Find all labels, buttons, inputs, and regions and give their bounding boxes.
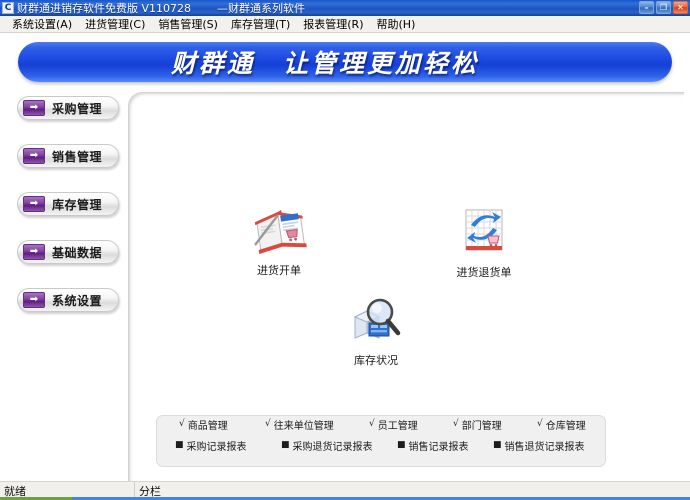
check-icon: √ (537, 419, 543, 429)
arrow-right-icon: ➡ (23, 244, 45, 260)
minimize-button[interactable]: – (639, 1, 654, 14)
arrow-right-icon: ➡ (23, 196, 45, 212)
application-window: C 财群通进销存软件免费版 V110728 —财群通系列软件 – ❐ ✕ 系统设… (0, 0, 690, 500)
link-label: 仓库管理 (546, 417, 586, 432)
shortcut-inventory-status[interactable]: 库存状况 (321, 293, 431, 368)
link-label: 往来单位管理 (274, 417, 334, 432)
brand-banner: 财群通让管理更加轻松 (18, 42, 672, 82)
link-sales-return-record-report[interactable]: ■ 销售退货记录报表 (493, 438, 585, 453)
sidebar-item-label: 销售管理 (52, 148, 102, 165)
sidebar-item-sales[interactable]: ➡ 销售管理 (17, 144, 119, 168)
body-area: 财群通让管理更加轻松 ➡ 采购管理 ➡ 销售管理 ➡ 库存管理 ➡ 基础数据 (0, 33, 690, 481)
menu-item-purchase[interactable]: 进货管理(C) (79, 17, 152, 32)
shortcut-label: 进货退货单 (457, 264, 512, 280)
link-purchase-return-record-report[interactable]: ■ 采购退货记录报表 (281, 438, 373, 453)
inventory-search-icon (347, 293, 405, 345)
link-goods-management[interactable]: √ 商品管理 (179, 417, 228, 432)
window-title: 财群通进销存软件免费版 V110728 (17, 2, 191, 15)
check-icon: √ (453, 419, 459, 429)
link-employee-management[interactable]: √ 员工管理 (369, 417, 418, 432)
check-icon: √ (179, 419, 185, 429)
arrow-right-icon: ➡ (23, 100, 45, 116)
link-purchase-record-report[interactable]: ■ 采购记录报表 (175, 438, 247, 453)
arrow-right-icon: ➡ (23, 292, 45, 308)
link-label: 销售记录报表 (409, 438, 469, 453)
menu-item-system-settings[interactable]: 系统设置(A) (6, 17, 79, 32)
sidebar: ➡ 采购管理 ➡ 销售管理 ➡ 库存管理 ➡ 基础数据 ➡ 系统设置 (0, 90, 128, 482)
window-controls: – ❐ ✕ (639, 1, 688, 14)
banner-brand: 财群通 (171, 49, 255, 78)
shortcut-label: 进货开单 (257, 262, 301, 278)
arrow-right-icon: ➡ (23, 148, 45, 164)
sidebar-item-label: 库存管理 (52, 196, 102, 213)
check-icon: √ (369, 419, 375, 429)
sidebar-item-inventory[interactable]: ➡ 库存管理 (17, 192, 119, 216)
menu-bar: 系统设置(A) 进货管理(C) 销售管理(S) 库存管理(T) 报表管理(R) … (0, 16, 690, 33)
window-subtitle: —财群通系列软件 (217, 2, 305, 15)
sidebar-item-label: 基础数据 (52, 244, 102, 261)
return-document-icon (455, 205, 513, 257)
link-label: 销售退货记录报表 (505, 438, 585, 453)
ledger-book-icon (250, 203, 308, 255)
square-bullet-icon: ■ (175, 440, 184, 450)
shortcut-purchase-return[interactable]: 进货退货单 (429, 205, 539, 280)
shortcut-purchase-order[interactable]: 进货开单 (224, 203, 334, 278)
sidebar-item-label: 采购管理 (52, 100, 102, 117)
link-label: 采购退货记录报表 (293, 438, 373, 453)
close-button[interactable]: ✕ (673, 1, 688, 14)
link-label: 部门管理 (462, 417, 502, 432)
square-bullet-icon: ■ (397, 440, 406, 450)
main-panel: 进货开单 (128, 92, 684, 482)
sidebar-item-system-settings[interactable]: ➡ 系统设置 (17, 288, 119, 312)
square-bullet-icon: ■ (493, 440, 502, 450)
link-label: 员工管理 (378, 417, 418, 432)
menu-item-help[interactable]: 帮助(H) (371, 17, 423, 32)
link-department-management[interactable]: √ 部门管理 (453, 417, 502, 432)
sidebar-item-label: 系统设置 (52, 292, 102, 309)
menu-item-reports[interactable]: 报表管理(R) (297, 17, 370, 32)
sidebar-item-base-data[interactable]: ➡ 基础数据 (17, 240, 119, 264)
title-bar: C 财群通进销存软件免费版 V110728 —财群通系列软件 – ❐ ✕ (0, 0, 690, 16)
sidebar-item-purchase[interactable]: ➡ 采购管理 (17, 96, 119, 120)
check-icon: √ (265, 419, 271, 429)
shortcut-label: 库存状况 (354, 352, 398, 368)
link-warehouse-management[interactable]: √ 仓库管理 (537, 417, 586, 432)
banner-slogan: 让管理更加轻松 (283, 49, 479, 78)
link-sales-record-report[interactable]: ■ 销售记录报表 (397, 438, 469, 453)
menu-item-inventory[interactable]: 库存管理(T) (225, 17, 297, 32)
square-bullet-icon: ■ (281, 440, 290, 450)
quick-link-panel: √ 商品管理 √ 往来单位管理 √ 员工管理 √ 部门管理 (156, 415, 606, 467)
restore-button[interactable]: ❐ (656, 1, 671, 14)
link-partner-management[interactable]: √ 往来单位管理 (265, 417, 334, 432)
app-icon: C (2, 2, 14, 14)
banner-text: 财群通让管理更加轻松 (171, 44, 479, 80)
link-label: 商品管理 (188, 417, 228, 432)
link-label: 采购记录报表 (187, 438, 247, 453)
menu-item-sales[interactable]: 销售管理(S) (152, 17, 225, 32)
